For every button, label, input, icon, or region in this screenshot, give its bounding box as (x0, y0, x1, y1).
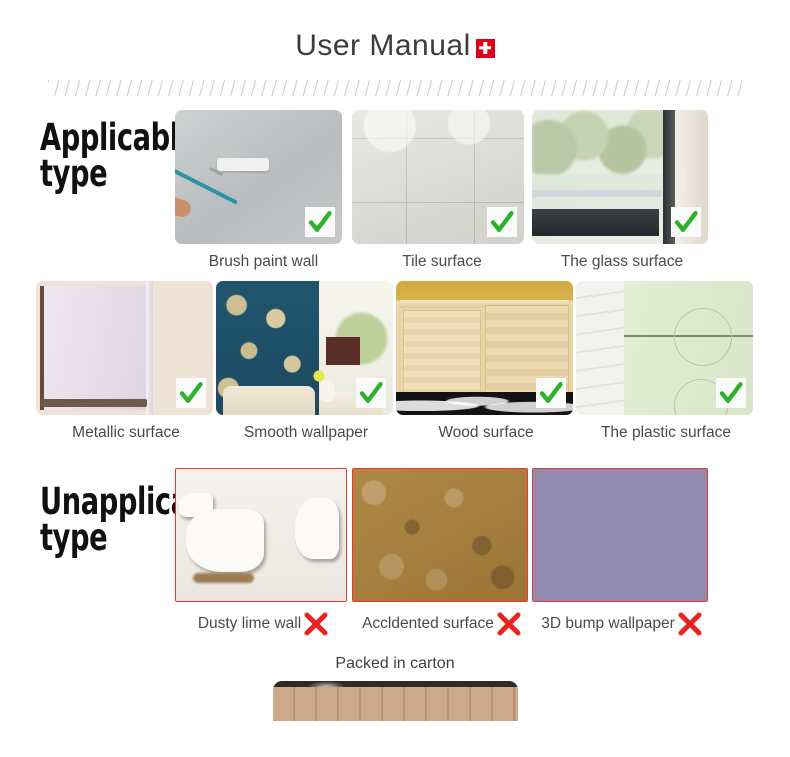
page-title-text: User Manual (295, 29, 471, 63)
caption-smooth-wallpaper: Smooth wallpaper (216, 424, 396, 442)
thumb-accldented-surface[interactable] (352, 468, 528, 602)
card-accldented-surface[interactable]: Accldented surface (352, 468, 532, 637)
card-metallic-surface[interactable]: Metallic surface (36, 281, 216, 442)
caption-glass-surface: The glass surface (532, 253, 712, 271)
paint-roller-handle (175, 167, 238, 204)
thumb-tile-surface[interactable] (352, 110, 524, 244)
railing (532, 190, 662, 197)
thumb-brush-paint-wall[interactable] (175, 110, 342, 244)
drawer-handle-ring (674, 308, 732, 366)
thumb-dusty-lime-wall[interactable] (175, 468, 347, 602)
caption-metallic-surface: Metallic surface (36, 424, 216, 442)
thumb-glass-surface[interactable] (532, 110, 708, 244)
applicable-type-label: Applicable type (0, 110, 175, 193)
caption-text: Dusty lime wall (198, 615, 301, 633)
red-cross-badge-icon (476, 39, 495, 58)
caption-wood-surface: Wood surface (396, 424, 576, 442)
image-accldented-surface (353, 469, 527, 601)
green-check-icon (487, 207, 517, 237)
caption-text: Accldented surface (362, 615, 494, 633)
sofa (223, 386, 315, 415)
thumb-metallic-surface[interactable] (36, 281, 213, 415)
vase (320, 380, 334, 402)
caption-text: 3D bump wallpaper (541, 615, 675, 633)
thumb-packed-in-carton[interactable] (273, 681, 518, 721)
thumb-smooth-wallpaper[interactable] (216, 281, 393, 415)
red-x-icon (303, 611, 329, 637)
exposed-substrate (193, 573, 254, 583)
image-packed-in-carton (273, 681, 518, 721)
caption-tile-surface: Tile surface (352, 253, 532, 271)
card-plastic-surface[interactable]: The plastic surface (576, 281, 756, 442)
paint-flake (186, 509, 264, 572)
caption-brush-paint-wall: Brush paint wall (175, 253, 352, 271)
green-check-icon (356, 378, 386, 408)
green-check-icon (716, 378, 746, 408)
carton-boxes (273, 687, 518, 721)
card-smooth-wallpaper[interactable]: Smooth wallpaper (216, 281, 396, 442)
highlight-glare (307, 681, 346, 687)
packed-in-carton-title: Packed in carton (0, 655, 790, 673)
caption-plastic-surface: The plastic surface (576, 424, 756, 442)
table-lamp (326, 337, 360, 365)
section-packed-in-carton: Packed in carton (0, 655, 790, 721)
refrigerator (40, 286, 150, 409)
wall-edge (146, 281, 153, 415)
card-wood-surface[interactable]: Wood surface (396, 281, 576, 442)
window-latch (678, 166, 685, 192)
refrigerator-base (41, 399, 147, 407)
thumb-wood-surface[interactable] (396, 281, 573, 415)
thumb-3d-bump-wallpaper[interactable] (532, 468, 708, 602)
image-3d-bump-wallpaper (533, 469, 707, 601)
hand (175, 194, 193, 219)
trees-outside (532, 110, 669, 174)
flowers (308, 369, 330, 383)
paint-flake (295, 498, 339, 559)
green-check-icon (305, 207, 335, 237)
section-applicable: Applicable type Brush paint wall (0, 110, 790, 442)
window-sill (532, 209, 659, 236)
image-dusty-lime-wall (176, 469, 346, 601)
thumb-plastic-surface[interactable] (576, 281, 753, 415)
card-tile-surface[interactable]: Tile surface (352, 110, 532, 271)
green-check-icon (536, 378, 566, 408)
card-glass-surface[interactable]: The glass surface (532, 110, 712, 271)
card-brush-paint-wall[interactable]: Brush paint wall (175, 110, 352, 271)
diagonal-slash-divider-icon (48, 80, 742, 96)
section-unapplicable: Unapplicable type Dusty lime wall (0, 468, 790, 637)
wardrobe-door-left (403, 310, 481, 393)
page-title: User Manual (295, 29, 495, 63)
paint-roller-head (217, 158, 269, 171)
red-x-icon (677, 611, 703, 637)
red-x-icon (496, 611, 522, 637)
caption-3d-bump-wallpaper: 3D bump wallpaper (532, 611, 712, 637)
card-3d-bump-wallpaper[interactable]: 3D bump wallpaper (532, 468, 712, 637)
unapplicable-type-label: Unapplicable type (0, 468, 175, 557)
card-dusty-lime-wall[interactable]: Dusty lime wall (175, 468, 352, 637)
green-check-icon (176, 378, 206, 408)
green-check-icon (671, 207, 701, 237)
page-header: User Manual (0, 0, 790, 78)
white-panel (576, 281, 624, 415)
caption-dusty-lime-wall: Dusty lime wall (175, 611, 352, 637)
caption-accldented-surface: Accldented surface (352, 611, 532, 637)
